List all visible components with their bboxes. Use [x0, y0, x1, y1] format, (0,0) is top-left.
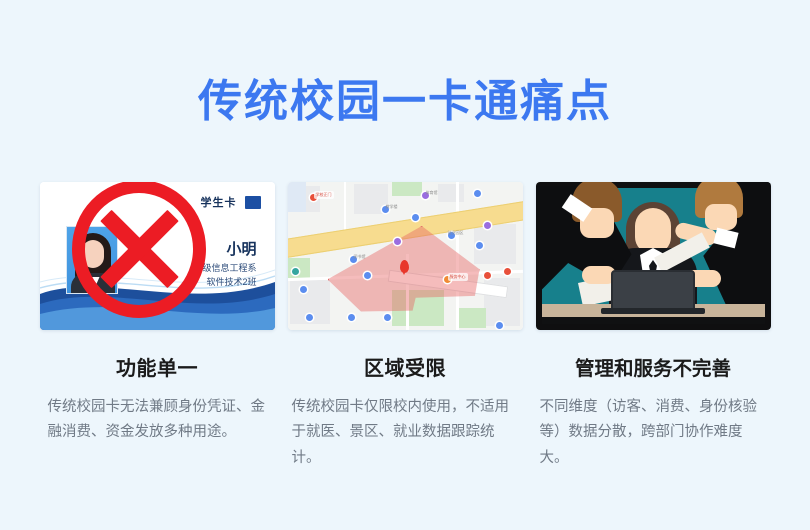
card-logo-square [245, 196, 261, 209]
map-poi [292, 268, 299, 275]
cards-row: 学生卡 小明 23级信息工程系 软件技术2班 [0, 182, 810, 482]
meeting-illustration [536, 182, 771, 330]
map-label: 体育馆 [426, 190, 438, 196]
desk-shadow [542, 317, 765, 324]
map-poi [306, 314, 313, 321]
right-person-face [705, 204, 737, 230]
map-poi [412, 214, 419, 221]
card-function-single: 学生卡 小明 23级信息工程系 软件技术2班 [40, 182, 275, 446]
student-name: 小明 [226, 238, 256, 259]
card-header: 学生卡 [201, 194, 261, 210]
thumbnail-student-card: 学生卡 小明 23级信息工程系 软件技术2班 [40, 182, 275, 330]
card-body-area-limited: 传统校园卡仅限校内使用，不适用于就医、景区、就业数据跟踪统计。 [288, 395, 523, 471]
map-green-area [456, 308, 486, 328]
thumbnail-map: 学校正门 教学楼 体育馆 图书馆 创业园区 服务中心 [288, 182, 523, 330]
map-poi [300, 286, 307, 293]
map-green-area [288, 258, 310, 278]
map-label: 创业园区 [448, 230, 464, 236]
map-water [288, 182, 306, 212]
card-management-service: 管理和服务不完善 不同维度（访客、消费、身份核验等）数据分散，跨部门协作难度大。 [536, 182, 771, 471]
card-area-limited: 学校正门 教学楼 体育馆 图书馆 创业园区 服务中心 区域受限 传统校园卡仅限校… [288, 182, 523, 471]
map-poi [474, 190, 481, 197]
card-header-label: 学生卡 [201, 194, 237, 210]
map-label: 服务中心 [448, 273, 468, 281]
student-class: 软件技术2班 [192, 276, 256, 290]
map-poi [484, 272, 491, 279]
location-pin-icon [400, 260, 409, 273]
map-label: 学校正门 [314, 191, 334, 199]
thumbnail-meeting-illustration [536, 182, 771, 330]
map-block [438, 184, 464, 202]
card-title-function-single: 功能单一 [40, 352, 275, 381]
student-photo [66, 226, 118, 294]
map-label: 图书馆 [354, 254, 366, 260]
map-poi [364, 272, 371, 279]
card-title-area-limited: 区域受限 [288, 352, 523, 381]
map-poi [394, 238, 401, 245]
map-poi [348, 314, 355, 321]
map-poi [476, 242, 483, 249]
map-poi [504, 268, 511, 275]
campus-map: 学校正门 教学楼 体育馆 图书馆 创业园区 服务中心 [288, 182, 523, 330]
map-label: 教学楼 [386, 204, 398, 210]
map-poi [496, 322, 503, 329]
map-green-area [392, 182, 422, 196]
map-poi [384, 314, 391, 321]
student-id-card: 学生卡 小明 23级信息工程系 软件技术2班 [40, 182, 275, 330]
card-body-function-single: 传统校园卡无法兼顾身份凭证、金融消费、资金发放多种用途。 [40, 395, 275, 446]
photo-face [82, 240, 104, 268]
laptop [611, 270, 695, 310]
student-department: 23级信息工程系 [192, 262, 256, 276]
card-title-management-service: 管理和服务不完善 [536, 352, 771, 381]
laptop-base [601, 308, 705, 314]
card-body-management-service: 不同维度（访客、消费、身份核验等）数据分散，跨部门协作难度大。 [536, 395, 771, 471]
page-title: 传统校园一卡通痛点 [0, 78, 810, 126]
student-meta: 23级信息工程系 软件技术2班 [192, 262, 256, 290]
map-poi [484, 222, 491, 229]
